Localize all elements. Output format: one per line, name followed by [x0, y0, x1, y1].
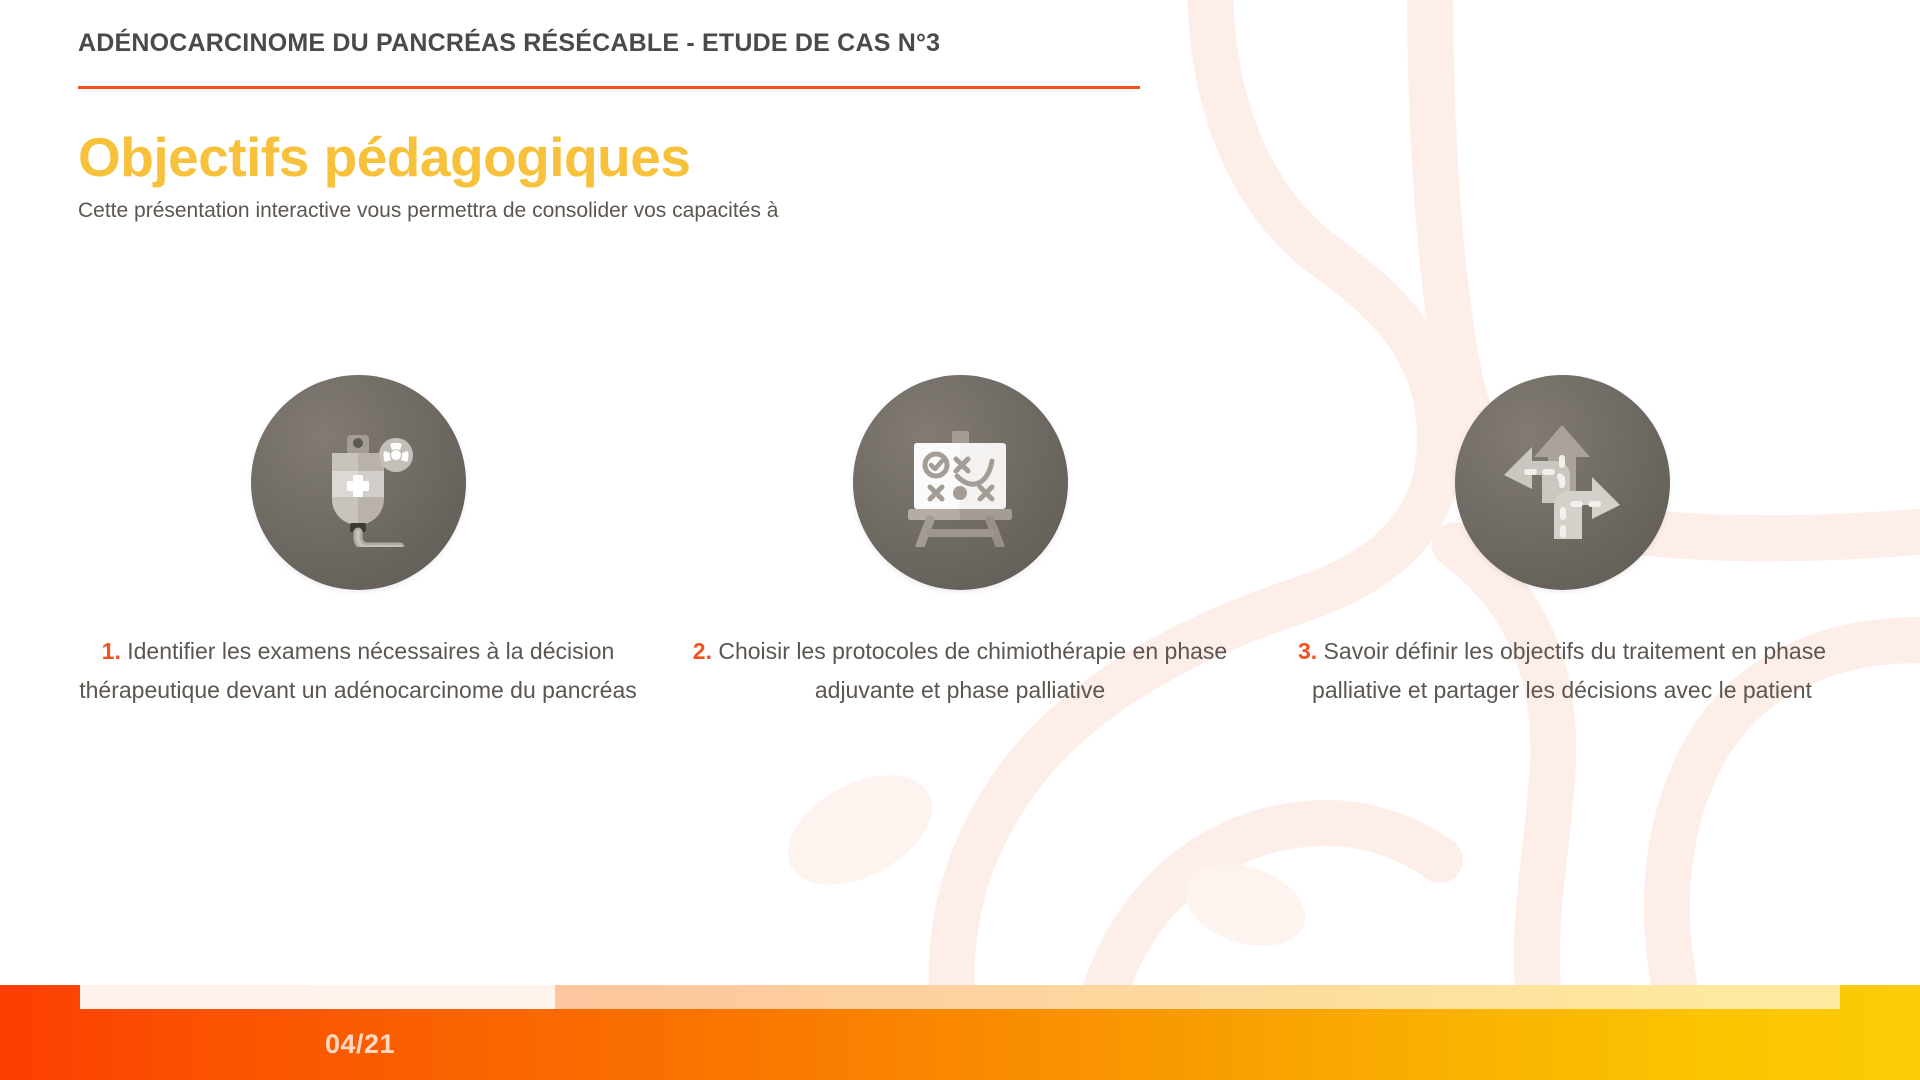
objective-2-text: Choisir les protocoles de chimiothérapie…: [712, 638, 1227, 703]
progress-bar-track[interactable]: [80, 985, 1840, 1009]
header-rule-line: [78, 86, 1140, 89]
objective-2-caption: 2. Choisir les protocoles de chimiothéra…: [680, 632, 1240, 710]
title-block: Objectifs pédagogiques Cette présentatio…: [78, 125, 778, 225]
slide-footer: 04/21: [0, 985, 1920, 1080]
header-title: ADÉNOCARCINOME DU PANCRÉAS RÉSÉCABLE - E…: [78, 26, 1138, 60]
page-title: Objectifs pédagogiques: [78, 125, 778, 189]
objective-2-number: 2.: [693, 638, 712, 664]
iv-blood-bag-icon: [294, 419, 422, 547]
slide-header: ADÉNOCARCINOME DU PANCRÉAS RÉSÉCABLE - E…: [78, 26, 1138, 60]
objective-item-3[interactable]: 3. Savoir définir les objectifs du trait…: [1282, 375, 1842, 710]
objective-3-caption: 3. Savoir définir les objectifs du trait…: [1282, 632, 1842, 710]
strategy-board-icon: [896, 419, 1024, 547]
objective-1-text: Identifier les examens nécessaires à la …: [79, 638, 637, 703]
objective-1-number: 1.: [102, 638, 121, 664]
objective-1-caption: 1. Identifier les examens nécessaires à …: [78, 632, 638, 710]
progress-bar-fill: [80, 985, 555, 1009]
objectives-list: 1. Identifier les examens nécessaires à …: [78, 375, 1842, 710]
objective-1-icon-circle[interactable]: [251, 375, 466, 590]
page-counter: 04/21: [80, 1009, 640, 1080]
objective-2-icon-circle[interactable]: [853, 375, 1068, 590]
three-way-arrows-icon: [1498, 419, 1626, 547]
slide: ADÉNOCARCINOME DU PANCRÉAS RÉSÉCABLE - E…: [0, 0, 1920, 1080]
objective-item-2[interactable]: 2. Choisir les protocoles de chimiothéra…: [680, 375, 1240, 710]
objective-3-number: 3.: [1298, 638, 1317, 664]
objective-3-icon-circle[interactable]: [1455, 375, 1670, 590]
header-divider: [78, 86, 1140, 89]
page-subtitle: Cette présentation interactive vous perm…: [78, 197, 778, 225]
objective-3-text: Savoir définir les objectifs du traiteme…: [1312, 638, 1826, 703]
objective-item-1[interactable]: 1. Identifier les examens nécessaires à …: [78, 375, 638, 710]
